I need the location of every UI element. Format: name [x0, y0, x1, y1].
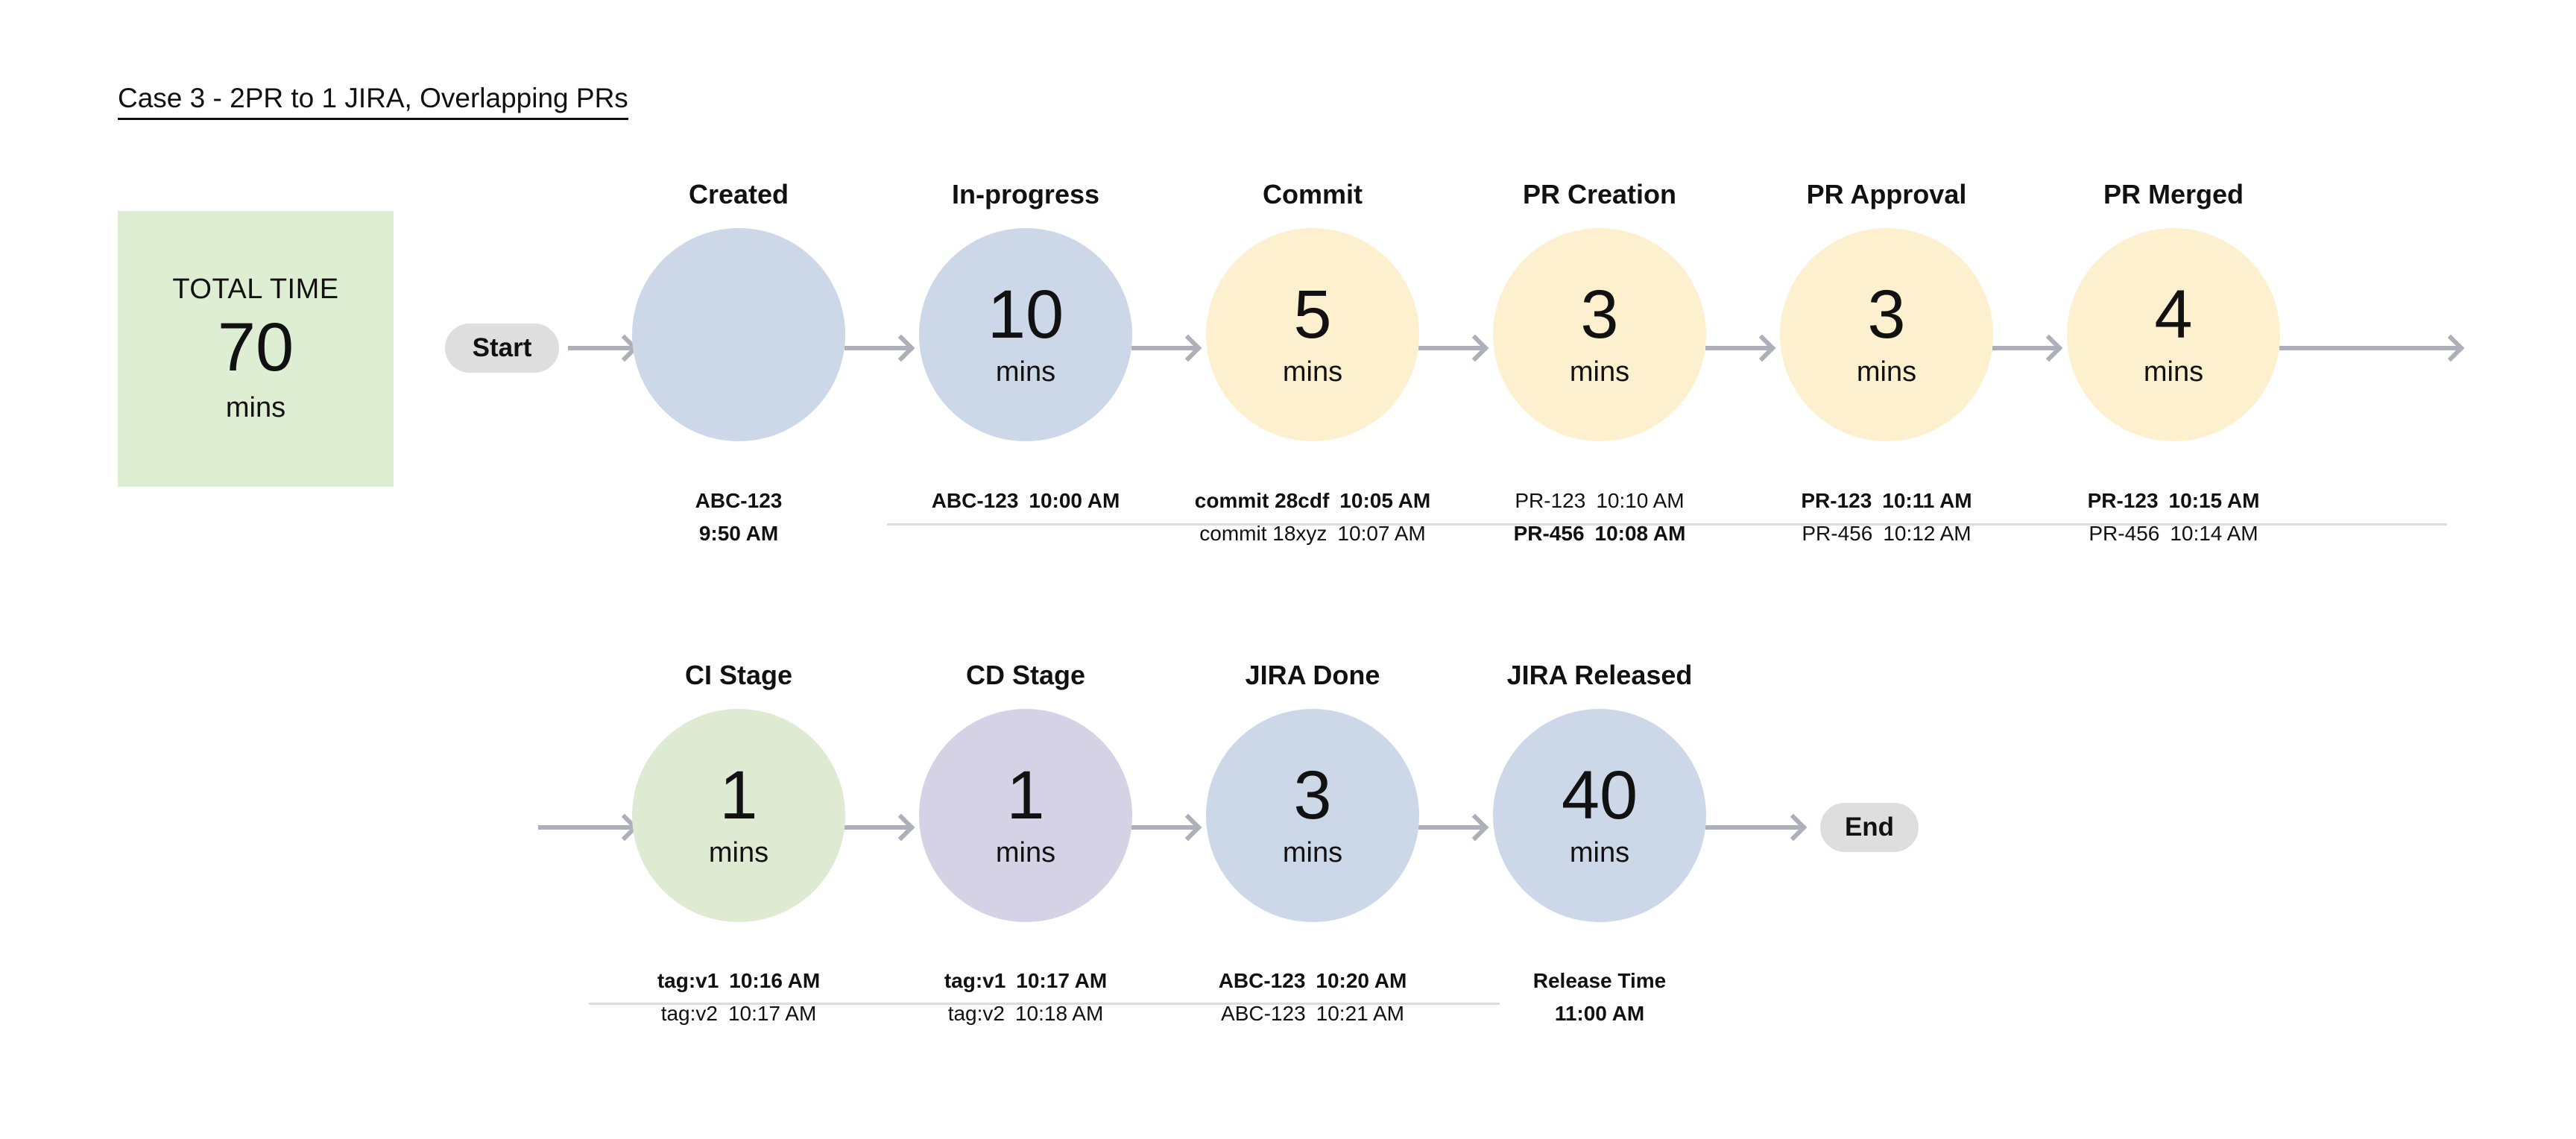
- node-value: 40: [1562, 762, 1638, 829]
- node-title: Created: [689, 179, 789, 210]
- arrow-prapproval-to-prmerged: [1992, 346, 2056, 350]
- node-ci-stage[interactable]: CI Stage 1 mins: [632, 660, 845, 922]
- node-value: 4: [2154, 281, 2192, 348]
- node-circle[interactable]: [632, 228, 845, 441]
- node-value: 3: [1580, 281, 1618, 348]
- detail-time: 10:11 AM: [1882, 490, 1972, 511]
- total-time-unit: mins: [226, 392, 285, 424]
- arrow-commit-to-prcreation: [1418, 346, 1483, 350]
- node-circle[interactable]: 40 mins: [1493, 709, 1706, 922]
- detail-jira-done: ABC-12310:20 AM ABC-12310:21 AM: [1156, 965, 1469, 1030]
- node-circle[interactable]: 3 mins: [1780, 228, 1993, 441]
- detail-time: 10:16 AM: [729, 971, 820, 991]
- node-pr-approval[interactable]: PR Approval 3 mins: [1780, 179, 1993, 441]
- detail-id: ABC-123: [932, 490, 1019, 511]
- detail-jira-released: Release Time 11:00 AM: [1443, 965, 1756, 1030]
- arrow-prcreation-to-prapproval: [1705, 346, 1770, 350]
- node-unit: mins: [1857, 356, 1916, 388]
- node-title: CI Stage: [685, 660, 792, 691]
- arrow-jirareleased-to-end: [1705, 825, 1801, 830]
- detail-pr-approval: PR-12310:11 AM PR-45610:12 AM: [1730, 485, 2043, 550]
- arrow-jiradone-to-jirareleased: [1418, 825, 1483, 830]
- node-in-progress[interactable]: In-progress 10 mins: [919, 179, 1132, 441]
- node-created[interactable]: Created: [632, 179, 845, 441]
- detail-commit: commit 28cdf10:05 AM commit 18xyz10:07 A…: [1156, 485, 1469, 550]
- detail-in-progress: ABC-12310:00 AM: [869, 485, 1182, 550]
- detail-id: Release Time: [1533, 971, 1667, 991]
- node-circle[interactable]: 1 mins: [919, 709, 1132, 922]
- detail-cd-stage: tag:v110:17 AM tag:v210:18 AM: [869, 965, 1182, 1030]
- node-title: JIRA Released: [1507, 660, 1693, 691]
- detail-id: commit 18xyz: [1199, 523, 1327, 544]
- total-time-card: TOTAL TIME 70 mins: [118, 211, 394, 487]
- node-value: 3: [1293, 762, 1331, 829]
- detail-time: 10:05 AM: [1339, 490, 1430, 511]
- detail-ci-stage: tag:v110:16 AM tag:v210:17 AM: [582, 965, 895, 1030]
- detail-pr-creation: PR-12310:10 AM PR-45610:08 AM: [1443, 485, 1756, 550]
- node-unit: mins: [709, 837, 768, 869]
- detail-id: PR-456: [1802, 523, 1872, 544]
- node-jira-done[interactable]: JIRA Done 3 mins: [1206, 660, 1419, 922]
- node-title: Commit: [1263, 179, 1363, 210]
- node-value: 1: [719, 762, 757, 829]
- arrow-prmerged-to-nextrow: [2279, 346, 2458, 350]
- node-cd-stage[interactable]: CD Stage 1 mins: [919, 660, 1132, 922]
- detail-time: 10:12 AM: [1883, 523, 1971, 544]
- node-value: 10: [988, 281, 1064, 348]
- detail-time: 10:17 AM: [1016, 971, 1107, 991]
- detail-time: 9:50 AM: [699, 523, 778, 544]
- detail-created: ABC-123 9:50 AM: [582, 485, 895, 550]
- arrow-created-to-inprogress: [845, 346, 909, 350]
- node-unit: mins: [2144, 356, 2203, 388]
- end-pill[interactable]: End: [1820, 803, 1919, 852]
- node-value: 1: [1006, 762, 1044, 829]
- page-title: Case 3 - 2PR to 1 JIRA, Overlapping PRs: [118, 83, 628, 120]
- detail-time: 11:00 AM: [1555, 1003, 1644, 1024]
- detail-id: PR-123: [1801, 490, 1872, 511]
- detail-id: tag:v1: [944, 971, 1006, 991]
- detail-id: commit 28cdf: [1195, 490, 1330, 511]
- node-title: JIRA Done: [1246, 660, 1380, 691]
- node-unit: mins: [1283, 837, 1342, 869]
- arrow-cd-to-jiradone: [1131, 825, 1196, 830]
- detail-id: PR-456: [2089, 523, 2159, 544]
- node-circle[interactable]: 3 mins: [1493, 228, 1706, 441]
- node-circle[interactable]: 1 mins: [632, 709, 845, 922]
- detail-time: 10:15 AM: [2169, 490, 2260, 511]
- node-circle[interactable]: 3 mins: [1206, 709, 1419, 922]
- detail-id: tag:v1: [657, 971, 719, 991]
- node-circle[interactable]: 5 mins: [1206, 228, 1419, 441]
- arrow-inprogress-to-commit: [1131, 346, 1196, 350]
- node-pr-creation[interactable]: PR Creation 3 mins: [1493, 179, 1706, 441]
- total-time-value: 70: [218, 313, 294, 382]
- detail-time: 10:18 AM: [1015, 1003, 1103, 1024]
- node-jira-released[interactable]: JIRA Released 40 mins: [1493, 660, 1706, 922]
- node-title: PR Approval: [1807, 179, 1967, 210]
- node-unit: mins: [1570, 356, 1629, 388]
- detail-time: 10:10 AM: [1596, 490, 1684, 511]
- node-title: In-progress: [952, 179, 1099, 210]
- detail-id: PR-456: [1514, 523, 1585, 544]
- node-circle[interactable]: 10 mins: [919, 228, 1132, 441]
- node-title: PR Merged: [2103, 179, 2244, 210]
- node-circle[interactable]: 4 mins: [2067, 228, 2280, 441]
- detail-id: tag:v2: [948, 1003, 1005, 1024]
- detail-id: PR-123: [1515, 490, 1585, 511]
- arrow-row2-entry: [538, 825, 632, 830]
- node-commit[interactable]: Commit 5 mins: [1206, 179, 1419, 441]
- total-time-label: TOTAL TIME: [172, 274, 338, 306]
- start-pill[interactable]: Start: [445, 324, 559, 373]
- detail-time: 10:08 AM: [1595, 523, 1686, 544]
- detail-time: 10:20 AM: [1316, 971, 1407, 991]
- detail-time: 10:14 AM: [2170, 523, 2258, 544]
- detail-id: ABC-123: [695, 490, 783, 511]
- node-title: CD Stage: [966, 660, 1085, 691]
- node-unit: mins: [996, 356, 1055, 388]
- detail-id: ABC-123: [1219, 971, 1306, 991]
- arrow-start-to-created: [568, 346, 632, 350]
- arrow-ci-to-cd: [845, 825, 909, 830]
- node-pr-merged[interactable]: PR Merged 4 mins: [2067, 179, 2280, 441]
- detail-time: 10:07 AM: [1337, 523, 1425, 544]
- detail-id: ABC-123: [1221, 1003, 1306, 1024]
- node-unit: mins: [996, 837, 1055, 869]
- node-unit: mins: [1283, 356, 1342, 388]
- detail-time: 10:21 AM: [1316, 1003, 1404, 1024]
- node-unit: mins: [1570, 837, 1629, 869]
- node-value: 5: [1293, 281, 1331, 348]
- detail-time: 10:17 AM: [728, 1003, 816, 1024]
- node-title: PR Creation: [1523, 179, 1676, 210]
- detail-id: tag:v2: [661, 1003, 718, 1024]
- detail-time: 10:00 AM: [1029, 490, 1120, 511]
- detail-pr-merged: PR-12310:15 AM PR-45610:14 AM: [2017, 485, 2330, 550]
- detail-id: PR-123: [2088, 490, 2159, 511]
- node-value: 3: [1867, 281, 1905, 348]
